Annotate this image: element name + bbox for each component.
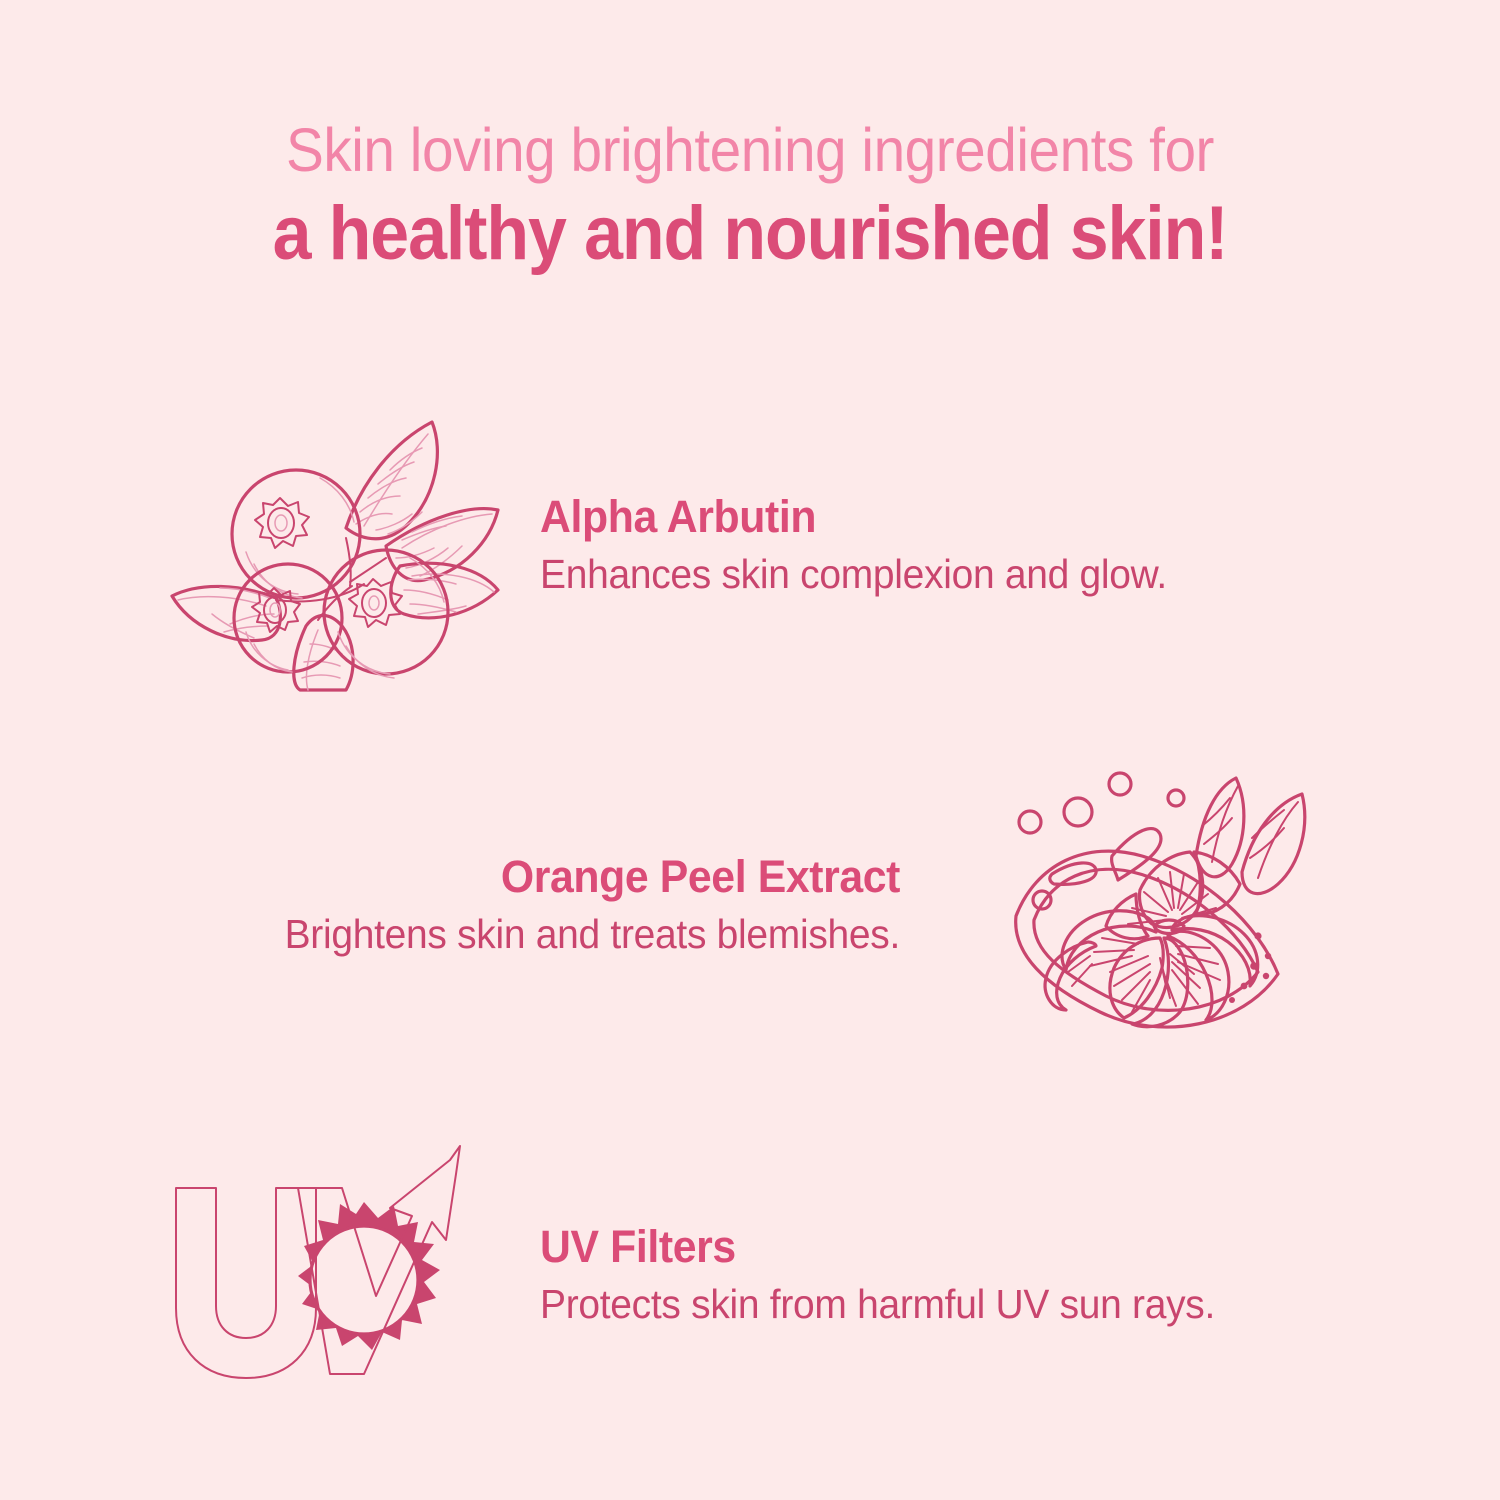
ingredient-title: Orange Peel Extract	[188, 848, 901, 906]
ingredient-row-uv-filters: UV Filters Protects skin from harmful UV…	[150, 1130, 1350, 1420]
ingredient-row-orange-peel: Orange Peel Extract Brightens skin and t…	[150, 760, 1350, 1050]
ingredient-text-uv-filters: UV Filters Protects skin from harmful UV…	[510, 1218, 1350, 1332]
page-headline: Skin loving brightening ingredients for …	[0, 112, 1500, 280]
ingredient-text-alpha-arbutin: Alpha Arbutin Enhances skin complexion a…	[510, 488, 1350, 602]
ingredient-description: Enhances skin complexion and glow.	[540, 546, 1310, 602]
blueberry-branch-icon	[150, 400, 510, 690]
orange-slice-icon	[990, 760, 1350, 1050]
ingredient-text-orange-peel: Orange Peel Extract Brightens skin and t…	[150, 848, 950, 962]
ingredient-description: Protects skin from harmful UV sun rays.	[540, 1276, 1310, 1332]
ingredient-title: UV Filters	[540, 1218, 1310, 1276]
headline-line-1: Skin loving brightening ingredients for	[53, 112, 1448, 188]
ingredient-title: Alpha Arbutin	[540, 488, 1310, 546]
headline-line-2: a healthy and nourished skin!	[60, 188, 1440, 280]
ingredient-description: Brightens skin and treats blemishes.	[188, 906, 901, 962]
ingredient-row-alpha-arbutin: Alpha Arbutin Enhances skin complexion a…	[150, 400, 1350, 690]
uv-sun-arrow-icon	[150, 1130, 510, 1420]
